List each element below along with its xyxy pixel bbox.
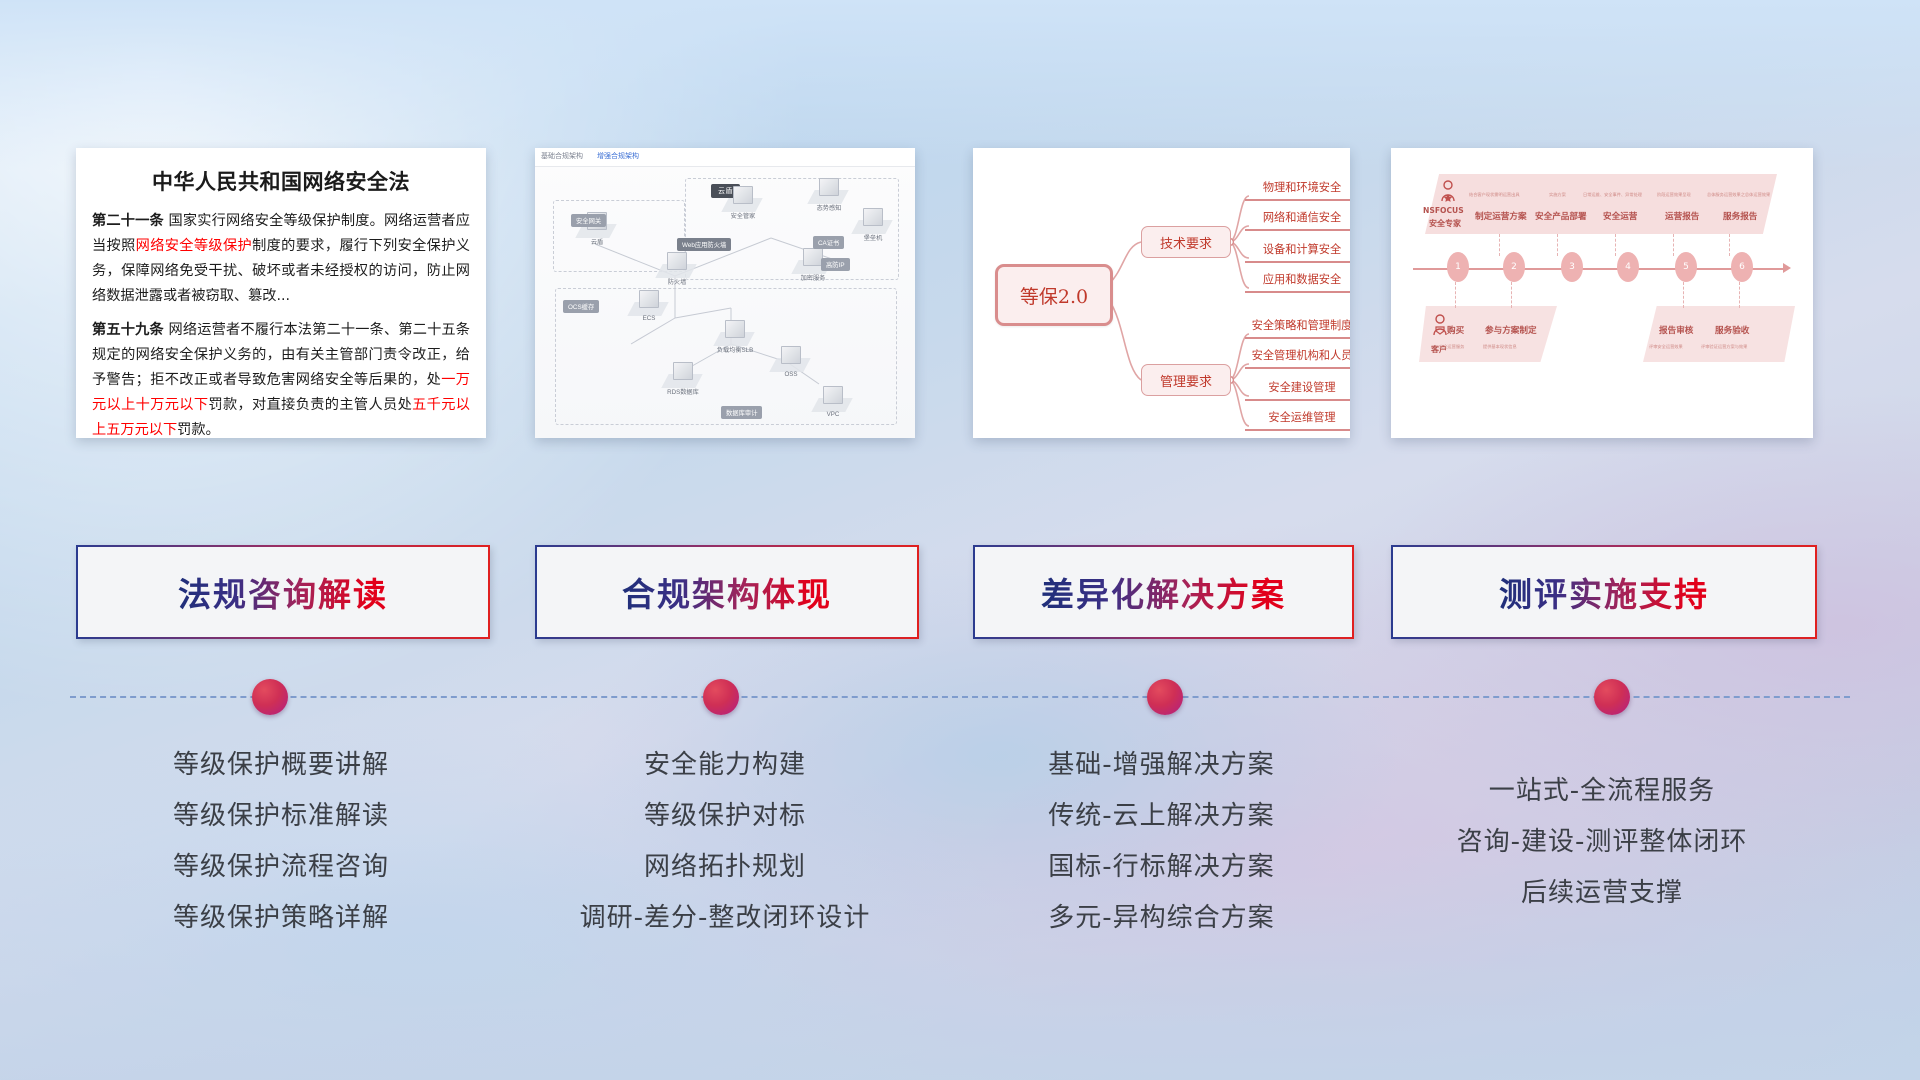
mindmap-leaf: 安全策略和管理制度: [1245, 312, 1350, 339]
arch-node-label: 防火墙: [651, 277, 703, 286]
headline-row: 法规咨询解读 合规架构体现 差异化解决方案 测评实施支持: [0, 545, 1920, 637]
timeline-node-2[interactable]: [703, 679, 739, 715]
nsfocus-step-sub: 总体服务运营效果之总体运营效果: [1707, 192, 1770, 198]
nsfocus-step-title: 安全运营: [1603, 210, 1637, 222]
nsfocus-step-title: 参与方案制定: [1485, 324, 1537, 336]
nsfocus-marker: 3: [1561, 252, 1583, 282]
arch-node-label: 负载均衡SLB: [709, 345, 761, 354]
list-item: 安全能力构建: [535, 740, 915, 791]
arch-node-label: 堡垒机: [847, 233, 899, 242]
timeline-node-1[interactable]: [252, 679, 288, 715]
list-item: 后续运营支撑: [1391, 868, 1813, 919]
nsfocus-step-sub: 结合客户现状需明运营出具: [1469, 192, 1520, 198]
arch-node-label: 加密服务: [787, 273, 839, 282]
nsfocus-step-sub: 安全运营服务: [1439, 344, 1464, 350]
mindmap-leaf: 安全运维管理: [1245, 404, 1350, 431]
list-item: 基础-增强解决方案: [973, 740, 1350, 791]
arch-pill-dbaudit: 数据库审计: [721, 406, 762, 419]
arch-node-label: 安全管家: [717, 211, 769, 220]
list-item: 等级保护对标: [535, 791, 915, 842]
nsfocus-marker: 2: [1503, 252, 1525, 282]
mindmap-branch-technical: 技术要求: [1141, 226, 1231, 258]
arch-pill-waf: Web应用防火墙: [677, 238, 731, 251]
mindmap-leaf: 设备和计算安全: [1245, 236, 1350, 263]
detail-list-3: 基础-增强解决方案 传统-云上解决方案 国标-行标解决方案 多元-异构综合方案: [973, 740, 1350, 944]
law-article-59-label: 第五十九条: [92, 322, 164, 338]
detail-list-4: 一站式-全流程服务 咨询-建设-测评整体闭环 后续运营支撑: [1391, 766, 1813, 919]
nsfocus-step-title: 报告审核: [1659, 324, 1693, 336]
arch-node-label: 态势感知: [803, 203, 855, 212]
nsfocus-step-title: 运营报告: [1665, 210, 1699, 222]
mindmap-leaf: 安全建设管理: [1245, 374, 1350, 401]
nsfocus-step-title: 安全产品部署: [1535, 210, 1587, 222]
mindmap-leaf: 安全管理机构和人员: [1245, 342, 1350, 369]
list-item: 等级保护标准解读: [76, 791, 486, 842]
timeline-dashed-line: [70, 696, 1850, 702]
list-item: 等级保护流程咨询: [76, 842, 486, 893]
nsfocus-step-title: 服务验收: [1715, 324, 1749, 336]
headline-label: 合规架构体现: [622, 568, 832, 616]
law-article-59: 第五十九条 网络运营者不履行本法第二十一条、第二十五条规定的网络安全保护义务的，…: [92, 318, 470, 443]
law-article-21-label: 第二十一条: [92, 213, 164, 229]
nsfocus-step-title: 购买: [1447, 324, 1464, 336]
law-title: 中华人民共和国网络安全法: [92, 166, 470, 196]
timeline-node-4[interactable]: [1594, 679, 1630, 715]
mindmap-leaf: 应用和数据安全: [1245, 266, 1350, 293]
list-item: 等级保护策略详解: [76, 893, 486, 944]
arch-node-label: OSS: [765, 371, 817, 378]
list-item: 网络拓扑规划: [535, 842, 915, 893]
detail-list-2: 安全能力构建 等级保护对标 网络拓扑规划 调研-差分-整改闭环设计: [535, 740, 915, 944]
list-item: 等级保护概要讲解: [76, 740, 486, 791]
nsfocus-step-sub: 阶段运营效果呈现: [1657, 192, 1691, 198]
card-mindmap[interactable]: 等保2.0 技术要求 管理要求 物理和环境安全 网络和通信安全 设备和计算安全 …: [973, 148, 1350, 438]
headline-label: 测评实施支持: [1499, 568, 1709, 616]
nsfocus-step-sub: 评审验证运营方案与效果: [1701, 344, 1747, 350]
arch-node-label: 云盾: [571, 237, 623, 246]
nsfocus-step-title: 服务报告: [1723, 210, 1757, 222]
arch-node-label: ECS: [623, 315, 675, 322]
list-item: 国标-行标解决方案: [973, 842, 1350, 893]
headline-box-1[interactable]: 法规咨询解读: [76, 545, 490, 639]
nsfocus-marker: 5: [1675, 252, 1697, 282]
nsfocus-step-sub: 实施方案: [1549, 192, 1566, 198]
timeline-node-3[interactable]: [1147, 679, 1183, 715]
nsfocus-axis-arrow: [1783, 263, 1791, 273]
law-article-21: 第二十一条 国家实行网络安全等级保护制度。网络运营者应当按照网络安全等级保护制度…: [92, 209, 470, 309]
nsfocus-step-sub: 提供基本现状信息: [1483, 344, 1517, 350]
card-law-text[interactable]: 中华人民共和国网络安全法 第二十一条 国家实行网络安全等级保护制度。网络运营者应…: [76, 148, 486, 438]
expert-person-icon: [1439, 180, 1457, 202]
nsfocus-marker: 4: [1617, 252, 1639, 282]
law-article-59-text-b: 罚款，对直接负责的主管人员处: [208, 397, 412, 413]
headline-box-2[interactable]: 合规架构体现: [535, 545, 919, 639]
list-item: 多元-异构综合方案: [973, 893, 1350, 944]
list-item: 咨询-建设-测评整体闭环: [1391, 817, 1813, 868]
arch-pill-gateway: 安全网关: [571, 214, 606, 227]
detail-list-1: 等级保护概要讲解 等级保护标准解读 等级保护流程咨询 等级保护策略详解: [76, 740, 486, 944]
nsfocus-expert-line1: NSFOCUS: [1423, 206, 1464, 215]
nsfocus-step-sub: 日常运维、安全事件、异常处理: [1583, 192, 1642, 198]
nsfocus-expert-line2: 安全专家: [1429, 218, 1461, 229]
arch-pill-antiddos: 高防IP: [821, 258, 850, 271]
mindmap-root: 等保2.0: [995, 264, 1113, 326]
law-article-59-text-c: 罚款。: [177, 422, 220, 438]
illustration-row: 中华人民共和国网络安全法 第二十一条 国家实行网络安全等级保护制度。网络运营者应…: [0, 148, 1920, 443]
mindmap-leaf: 网络和通信安全: [1245, 204, 1350, 231]
nsfocus-marker: 1: [1447, 252, 1469, 282]
nsfocus-top-band: [1425, 174, 1777, 234]
headline-label: 法规咨询解读: [178, 568, 388, 616]
arch-node-label: RDS数据库: [657, 387, 709, 396]
arch-pill-ca: CA证书: [813, 236, 844, 249]
arch-pill-ocs: OCS缓存: [563, 300, 599, 313]
list-item: 传统-云上解决方案: [973, 791, 1350, 842]
nsfocus-step-title: 制定运营方案: [1475, 210, 1527, 222]
card-cloud-architecture[interactable]: 基础合规架构 增强合规架构 云盾: [535, 148, 915, 438]
headline-box-3[interactable]: 差异化解决方案: [973, 545, 1354, 639]
list-item: 调研-差分-整改闭环设计: [535, 893, 915, 944]
mindmap-leaf: 物理和环境安全: [1245, 174, 1350, 201]
headline-box-4[interactable]: 测评实施支持: [1391, 545, 1817, 639]
nsfocus-marker: 6: [1731, 252, 1753, 282]
headline-label: 差异化解决方案: [1041, 568, 1286, 616]
nsfocus-step-sub: 评审安全运营效果: [1649, 344, 1683, 350]
mindmap-branch-management: 管理要求: [1141, 364, 1231, 396]
arch-node-label: VPC: [807, 411, 859, 418]
list-item: 一站式-全流程服务: [1391, 766, 1813, 817]
law-article-21-highlight: 网络安全等级保护: [136, 238, 252, 254]
card-nsfocus-timeline[interactable]: NSFOCUS 安全专家 客户 制定运营方案 结合客户现状需明运营出具 安全产品…: [1391, 148, 1813, 438]
